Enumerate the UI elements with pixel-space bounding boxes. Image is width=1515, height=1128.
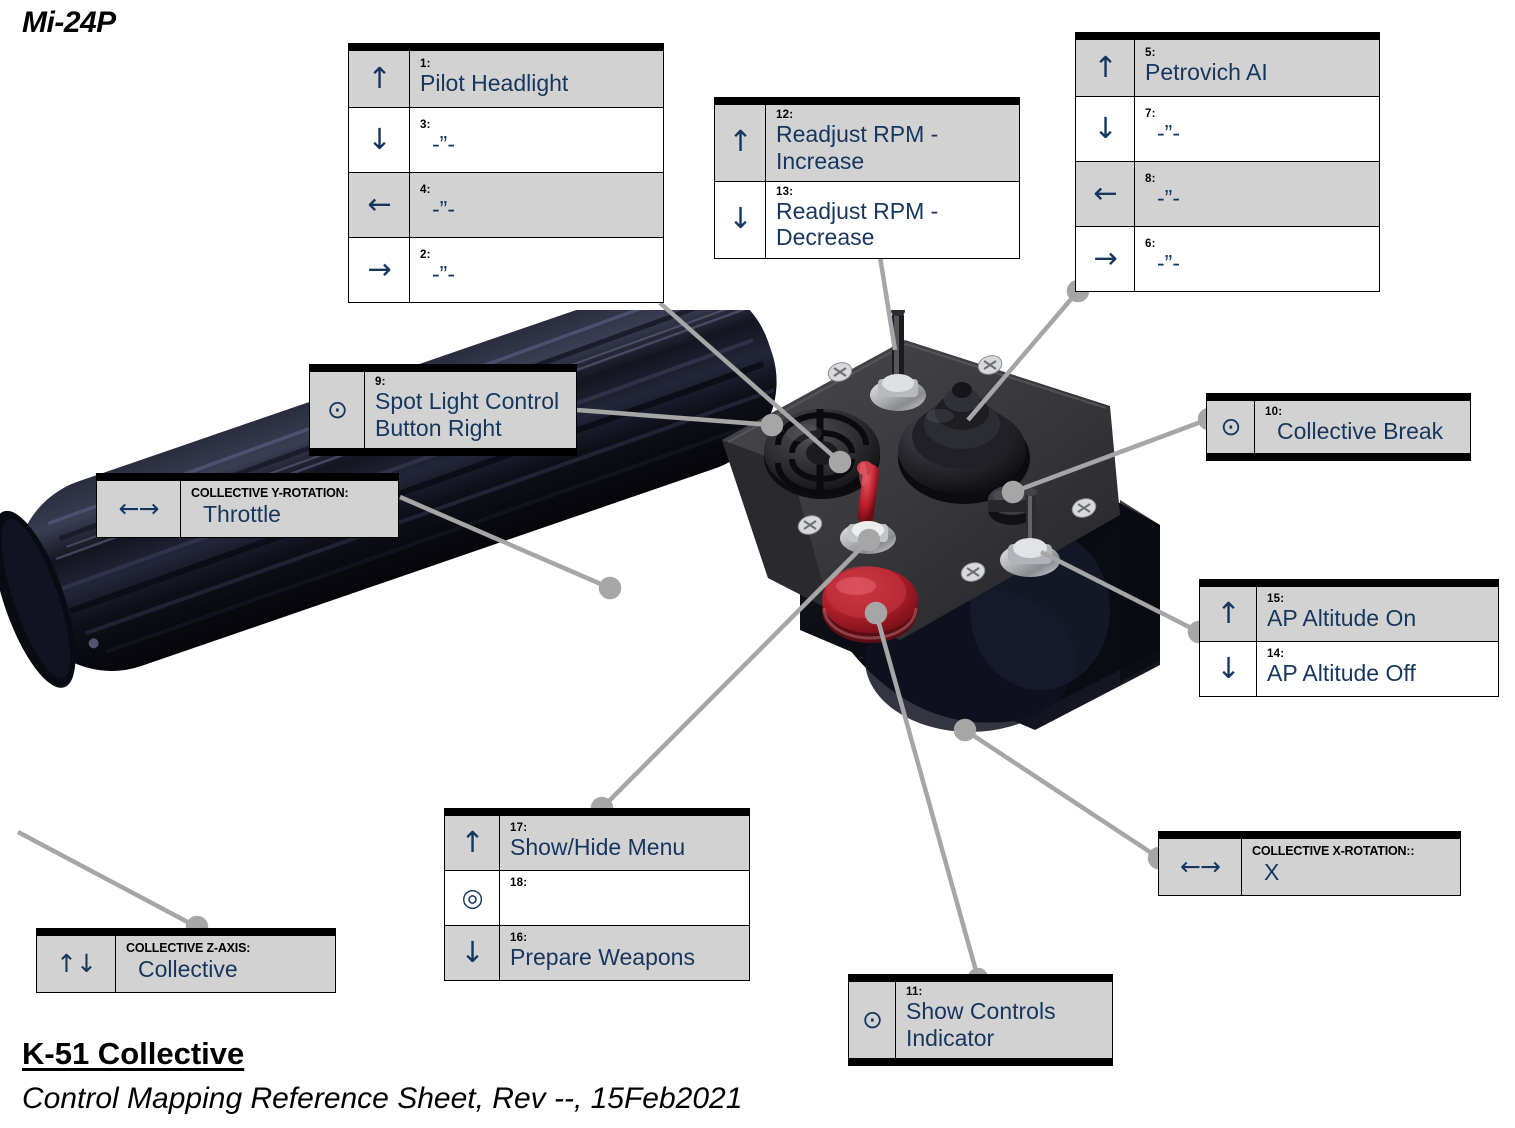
callout-bottom-bar bbox=[309, 449, 577, 456]
left-right-arrow-icon: ←→ bbox=[1159, 839, 1242, 896]
binding-label: -”- bbox=[1145, 185, 1373, 211]
binding-number: 11: bbox=[906, 986, 1106, 998]
binding-label: Readjust RPM - Increase bbox=[776, 121, 1013, 174]
callout-pilot-headlight[interactable]: ↑ 1: Pilot Headlight ↓ 3: -”- ← 4: -”- bbox=[348, 43, 664, 303]
binding-label: Collective Break bbox=[1265, 418, 1464, 444]
callout-cell: 12: Readjust RPM - Increase bbox=[766, 105, 1020, 182]
callout-spot-light-control[interactable]: ⊙ 9: Spot Light Control Button Right bbox=[309, 364, 577, 456]
callout-cell: 14: AP Altitude Off bbox=[1257, 642, 1499, 697]
callout-cell: 15: AP Altitude On bbox=[1257, 587, 1499, 642]
table-row[interactable]: ←→ COLLECTIVE Y-ROTATION: Throttle bbox=[97, 481, 399, 538]
binding-label: Prepare Weapons bbox=[510, 944, 743, 970]
arrow-down-icon: ↓ bbox=[1200, 642, 1257, 697]
aircraft-title: Mi-24P bbox=[22, 6, 116, 40]
binding-label: -”- bbox=[420, 131, 657, 157]
table-row[interactable]: ← 4: -”- bbox=[349, 173, 664, 238]
arrow-right-icon: → bbox=[349, 238, 410, 303]
callout-cell: 8: -”- bbox=[1135, 162, 1380, 227]
table-row[interactable]: ↓ 13: Readjust RPM - Decrease bbox=[715, 181, 1020, 258]
table-row[interactable]: ↑ 17: Show/Hide Menu bbox=[445, 816, 750, 871]
table-row[interactable]: ↑ 15: AP Altitude On bbox=[1200, 587, 1499, 642]
callout-top-bar bbox=[1199, 579, 1499, 586]
table-row[interactable]: ← 8: -”- bbox=[1076, 162, 1380, 227]
callout-readjust-rpm[interactable]: ↑ 12: Readjust RPM - Increase ↓ 13: Read… bbox=[714, 97, 1020, 259]
callout-bottom-bar bbox=[1206, 454, 1471, 461]
binding-number: 2: bbox=[420, 249, 657, 261]
arrow-up-icon: ↑ bbox=[715, 105, 766, 182]
press-button-icon: ◎ bbox=[445, 871, 500, 926]
callout-petrovich-ai[interactable]: ↑ 5: Petrovich AI ↓ 7: -”- ← 8: -”- bbox=[1075, 32, 1380, 292]
table-row[interactable]: ⊙ 10: Collective Break bbox=[1207, 401, 1471, 454]
binding-axis: COLLECTIVE Y-ROTATION: bbox=[191, 487, 392, 501]
binding-label: AP Altitude On bbox=[1267, 605, 1492, 631]
collective-photo bbox=[0, 310, 1200, 860]
up-down-arrow-icon: ↑↓ bbox=[37, 936, 116, 993]
callout-ap-altitude[interactable]: ↑ 15: AP Altitude On ↓ 14: AP Altitude O… bbox=[1199, 579, 1499, 697]
binding-number: 14: bbox=[1267, 648, 1492, 660]
table-row[interactable]: ↑ 5: Petrovich AI bbox=[1076, 40, 1380, 97]
table-row[interactable]: ⊙ 9: Spot Light Control Button Right bbox=[310, 372, 577, 449]
arrow-up-icon: ↑ bbox=[1076, 40, 1135, 97]
binding-label bbox=[510, 890, 743, 916]
callout-collective-break[interactable]: ⊙ 10: Collective Break bbox=[1206, 393, 1471, 461]
callout-top-bar bbox=[96, 473, 399, 480]
table-row[interactable]: ↓ 14: AP Altitude Off bbox=[1200, 642, 1499, 697]
binding-number: 4: bbox=[420, 184, 657, 196]
callout-cell: 13: Readjust RPM - Decrease bbox=[766, 181, 1020, 258]
callout-cell: COLLECTIVE Z-AXIS: Collective bbox=[116, 936, 336, 993]
callout-top-bar bbox=[36, 928, 336, 935]
callout-collective-z-axis[interactable]: ↑↓ COLLECTIVE Z-AXIS: Collective bbox=[36, 928, 336, 993]
binding-number: 17: bbox=[510, 822, 743, 834]
binding-number: 1: bbox=[420, 58, 657, 70]
reference-sheet: Mi-24P K-51 Collective Control Mapping R… bbox=[0, 0, 1515, 1128]
callout-cell: 17: Show/Hide Menu bbox=[500, 816, 750, 871]
callout-top-bar bbox=[444, 808, 750, 815]
push-button-icon: ⊙ bbox=[849, 982, 896, 1059]
binding-number: 5: bbox=[1145, 47, 1373, 59]
push-button-icon: ⊙ bbox=[1207, 401, 1255, 454]
binding-label: Throttle bbox=[191, 501, 392, 527]
callout-cell: 6: -”- bbox=[1135, 227, 1380, 292]
binding-number: 12: bbox=[776, 109, 1013, 121]
binding-number: 9: bbox=[375, 376, 570, 388]
callout-cell: 2: -”- bbox=[410, 238, 664, 303]
binding-number: 13: bbox=[776, 186, 1013, 198]
table-row[interactable]: ↑ 1: Pilot Headlight bbox=[349, 51, 664, 108]
binding-number: 7: bbox=[1145, 108, 1373, 120]
left-right-arrow-icon: ←→ bbox=[97, 481, 181, 538]
callout-cell: 4: -”- bbox=[410, 173, 664, 238]
push-button-icon: ⊙ bbox=[310, 372, 365, 449]
binding-axis: COLLECTIVE Z-AXIS: bbox=[126, 942, 329, 956]
arrow-down-icon: ↓ bbox=[1076, 97, 1135, 162]
binding-label: Spot Light Control Button Right bbox=[375, 388, 570, 441]
binding-number: 15: bbox=[1267, 593, 1492, 605]
table-row[interactable]: → 6: -”- bbox=[1076, 227, 1380, 292]
callout-cell: 11: Show Controls Indicator bbox=[896, 982, 1113, 1059]
arrow-right-icon: → bbox=[1076, 227, 1135, 292]
arrow-up-icon: ↑ bbox=[349, 51, 410, 108]
callout-cell: 7: -”- bbox=[1135, 97, 1380, 162]
arrow-down-icon: ↓ bbox=[445, 926, 500, 981]
binding-label: Petrovich AI bbox=[1145, 59, 1373, 85]
binding-number: 8: bbox=[1145, 173, 1373, 185]
callout-cell: COLLECTIVE Y-ROTATION: Throttle bbox=[181, 481, 399, 538]
callout-top-bar bbox=[848, 974, 1113, 981]
callout-cell: 5: Petrovich AI bbox=[1135, 40, 1380, 97]
binding-number: 6: bbox=[1145, 238, 1373, 250]
callout-top-bar bbox=[1075, 32, 1380, 39]
table-row[interactable]: ↑↓ COLLECTIVE Z-AXIS: Collective bbox=[37, 936, 336, 993]
callout-throttle[interactable]: ←→ COLLECTIVE Y-ROTATION: Throttle bbox=[96, 473, 399, 538]
table-row[interactable]: ↑ 12: Readjust RPM - Increase bbox=[715, 105, 1020, 182]
callout-cell: 10: Collective Break bbox=[1255, 401, 1471, 454]
binding-label: -”- bbox=[1145, 250, 1373, 276]
callout-cell: 18: bbox=[500, 871, 750, 926]
table-row[interactable]: ↓ 3: -”- bbox=[349, 108, 664, 173]
table-row[interactable]: ↓ 16: Prepare Weapons bbox=[445, 926, 750, 981]
binding-label: Collective bbox=[126, 956, 329, 982]
callout-cell: 3: -”- bbox=[410, 108, 664, 173]
arrow-up-icon: ↑ bbox=[445, 816, 500, 871]
callout-collective-x-rotation[interactable]: ←→ COLLECTIVE X-ROTATION:: X bbox=[1158, 831, 1461, 896]
callout-cell: 1: Pilot Headlight bbox=[410, 51, 664, 108]
callout-bottom-bar bbox=[848, 1059, 1113, 1066]
callout-cell: 16: Prepare Weapons bbox=[500, 926, 750, 981]
binding-label: Show/Hide Menu bbox=[510, 834, 743, 860]
callout-top-bar bbox=[1158, 831, 1461, 838]
table-row[interactable]: ←→ COLLECTIVE X-ROTATION:: X bbox=[1159, 839, 1461, 896]
binding-label: Pilot Headlight bbox=[420, 70, 657, 96]
arrow-down-icon: ↓ bbox=[715, 181, 766, 258]
callout-top-bar bbox=[309, 364, 577, 371]
binding-axis: COLLECTIVE X-ROTATION:: bbox=[1252, 845, 1454, 859]
table-row[interactable]: ⊙ 11: Show Controls Indicator bbox=[849, 982, 1113, 1059]
binding-number: 16: bbox=[510, 932, 743, 944]
callout-cell: 9: Spot Light Control Button Right bbox=[365, 372, 577, 449]
callout-top-bar bbox=[348, 43, 664, 50]
binding-label: Show Controls Indicator bbox=[906, 998, 1106, 1051]
binding-label: -”- bbox=[1145, 120, 1373, 146]
callout-top-bar bbox=[714, 97, 1020, 104]
callout-show-controls-indicator[interactable]: ⊙ 11: Show Controls Indicator bbox=[848, 974, 1113, 1066]
binding-label: -”- bbox=[420, 196, 657, 222]
arrow-left-icon: ← bbox=[1076, 162, 1135, 227]
binding-number: 10: bbox=[1265, 406, 1464, 418]
binding-number: 18: bbox=[510, 877, 743, 889]
callout-cell: COLLECTIVE X-ROTATION:: X bbox=[1242, 839, 1461, 896]
table-row[interactable]: ↓ 7: -”- bbox=[1076, 97, 1380, 162]
document-subtitle: Control Mapping Reference Sheet, Rev --,… bbox=[22, 1082, 742, 1116]
binding-label: X bbox=[1252, 859, 1454, 885]
table-row[interactable]: → 2: -”- bbox=[349, 238, 664, 303]
callout-top-bar bbox=[1206, 393, 1471, 400]
binding-number: 3: bbox=[420, 119, 657, 131]
binding-label: Readjust RPM - Decrease bbox=[776, 198, 1013, 251]
binding-label: -”- bbox=[420, 261, 657, 287]
binding-label: AP Altitude Off bbox=[1267, 660, 1492, 686]
arrow-down-icon: ↓ bbox=[349, 108, 410, 173]
arrow-left-icon: ← bbox=[349, 173, 410, 238]
arrow-up-icon: ↑ bbox=[1200, 587, 1257, 642]
table-row[interactable]: ◎ 18: bbox=[445, 871, 750, 926]
device-title: K-51 Collective bbox=[22, 1036, 244, 1072]
callout-menu-weapons[interactable]: ↑ 17: Show/Hide Menu ◎ 18: ↓ 16: Prepare… bbox=[444, 808, 750, 981]
